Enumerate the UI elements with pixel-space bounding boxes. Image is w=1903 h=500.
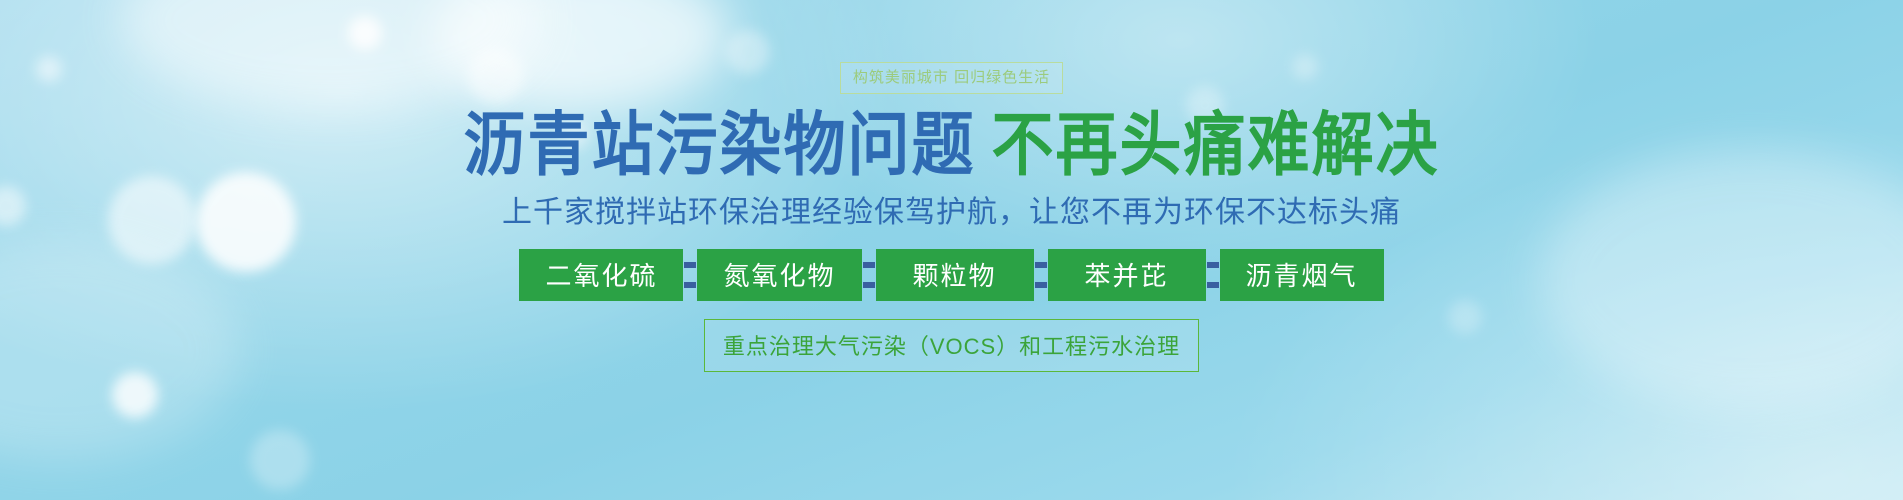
- tag-separator: [862, 249, 876, 301]
- pollutant-tag[interactable]: 二氧化硫: [519, 249, 683, 301]
- pollutant-tag-list: 二氧化硫 氮氧化物 颗粒物 苯并芘 沥青烟气: [519, 249, 1383, 301]
- service-scope-note: 重点治理大气污染（VOCS）和工程污水治理: [704, 319, 1199, 372]
- pollutant-tag[interactable]: 沥青烟气: [1220, 249, 1384, 301]
- tag-separator: [683, 249, 697, 301]
- separator-dash-top: [1035, 262, 1047, 268]
- page-title: 沥青站污染物问题不再头痛难解决: [463, 108, 1439, 183]
- pollutant-tag[interactable]: 颗粒物: [876, 249, 1034, 301]
- separator-dash-top: [863, 262, 875, 268]
- pollutant-tag[interactable]: 氮氧化物: [697, 249, 861, 301]
- pollutant-tag[interactable]: 苯并芘: [1048, 249, 1206, 301]
- subheadline: 上千家搅拌站环保治理经验保驾护航，让您不再为环保不达标头痛: [502, 195, 1401, 231]
- tagline-badge: 构筑美丽城市 回归绿色生活: [840, 62, 1063, 94]
- headline-accent: 不再头痛难解决: [992, 104, 1440, 186]
- tag-separator: [1034, 249, 1048, 301]
- separator-dash-top: [1207, 262, 1219, 268]
- separator-dash-bottom: [863, 282, 875, 288]
- tag-separator: [1206, 249, 1220, 301]
- hero-banner: 构筑美丽城市 回归绿色生活 沥青站污染物问题不再头痛难解决 上千家搅拌站环保治理…: [0, 0, 1903, 500]
- separator-dash-bottom: [684, 282, 696, 288]
- separator-dash-bottom: [1035, 282, 1047, 288]
- headline-primary: 沥青站污染物问题: [463, 104, 975, 186]
- separator-dash-bottom: [1207, 282, 1219, 288]
- separator-dash-top: [684, 262, 696, 268]
- banner-content: 构筑美丽城市 回归绿色生活 沥青站污染物问题不再头痛难解决 上千家搅拌站环保治理…: [0, 0, 1903, 500]
